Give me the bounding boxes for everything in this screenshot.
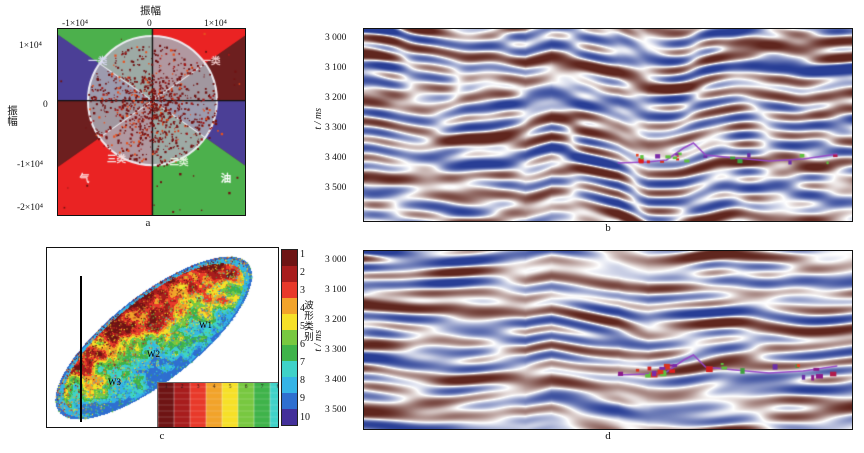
colorbar-tick-10: 10 <box>300 412 310 423</box>
panel-d-y-axis-title: t / ms <box>313 330 324 352</box>
panel-d-ytick-4: 3 400 <box>325 375 346 385</box>
colorbar-tick-2: 2 <box>300 267 305 278</box>
colorbar-tick-1: 1 <box>300 249 305 260</box>
colorbar-segment-7 <box>282 345 297 361</box>
panel-a-ytick-1: 0 <box>43 100 48 110</box>
well-label-w3: W3 <box>108 377 121 387</box>
panel-a-crossplot <box>57 28 246 216</box>
panel-a-y-axis-title: 振幅 <box>5 105 20 126</box>
panel-b-ytick-4: 3 400 <box>325 153 346 163</box>
colorbar-segment-5 <box>282 314 297 330</box>
well-label-w2: W2 <box>147 349 160 359</box>
colorbar-tick-7: 7 <box>300 357 305 368</box>
inset-canvas <box>158 383 279 428</box>
figure-root: 振幅 -1×10⁴ 0 1×10⁴ 振幅 1×10⁴ 0 -1×10⁴ -2×1… <box>0 0 864 453</box>
colorbar-tick-4: 4 <box>300 303 305 314</box>
panel-b-ytick-1: 3 100 <box>325 63 346 73</box>
colorbar-tick-3: 3 <box>300 285 305 296</box>
colorbar-tick-8: 8 <box>300 375 305 386</box>
well-label-w1: W1 <box>199 320 212 330</box>
colorbar-segment-10 <box>282 393 297 409</box>
panel-d-canvas <box>364 251 852 429</box>
panel-d-caption: d <box>588 430 628 442</box>
panel-a-ytick-3: -2×10⁴ <box>17 203 43 213</box>
colorbar-segment-2 <box>282 266 297 282</box>
panel-a-caption: a <box>128 217 168 229</box>
panel-c-model-traces-inset <box>157 382 279 428</box>
panel-c-colorbar <box>281 249 298 426</box>
panel-a-ytick-2: -1×10⁴ <box>17 160 43 170</box>
panel-a-x-axis-title: 振幅 <box>140 3 161 18</box>
colorbar-segment-9 <box>282 377 297 393</box>
colorbar-segment-1 <box>282 250 297 266</box>
panel-d-ytick-0: 3 000 <box>325 255 346 265</box>
colorbar-tick-9: 9 <box>300 393 305 404</box>
colorbar-tick-6: 6 <box>300 339 305 350</box>
panel-b-ytick-5: 3 500 <box>325 183 346 193</box>
panel-c-caption: c <box>142 430 182 442</box>
panel-d-ytick-1: 3 100 <box>325 285 346 295</box>
panel-d-ytick-2: 3 200 <box>325 315 346 325</box>
panel-b-canvas <box>364 29 852 221</box>
panel-b-ytick-0: 3 000 <box>325 33 346 43</box>
panel-b-ytick-2: 3 200 <box>325 93 346 103</box>
colorbar-segment-6 <box>282 330 297 346</box>
panel-d-ytick-5: 3 500 <box>325 405 346 415</box>
colorbar-tick-5: 5 <box>300 321 305 332</box>
colorbar-segment-4 <box>282 298 297 314</box>
panel-b-seismic-section <box>363 28 853 222</box>
panel-d-ytick-3: 3 300 <box>325 345 346 355</box>
panel-c-waveform-class-map: W1 W2 W3 <box>46 247 279 428</box>
panel-b-y-axis-title: t / ms <box>313 108 324 130</box>
panel-a-ytick-0: 1×10⁴ <box>19 41 42 51</box>
panel-c-section-line <box>80 276 82 422</box>
panel-a-canvas <box>58 29 245 215</box>
colorbar-segment-3 <box>282 282 297 298</box>
colorbar-segment-11 <box>282 409 297 425</box>
colorbar-segment-8 <box>282 361 297 377</box>
panel-b-caption: b <box>588 222 628 234</box>
panel-d-seismic-section <box>363 250 853 430</box>
panel-b-ytick-3: 3 300 <box>325 123 346 133</box>
